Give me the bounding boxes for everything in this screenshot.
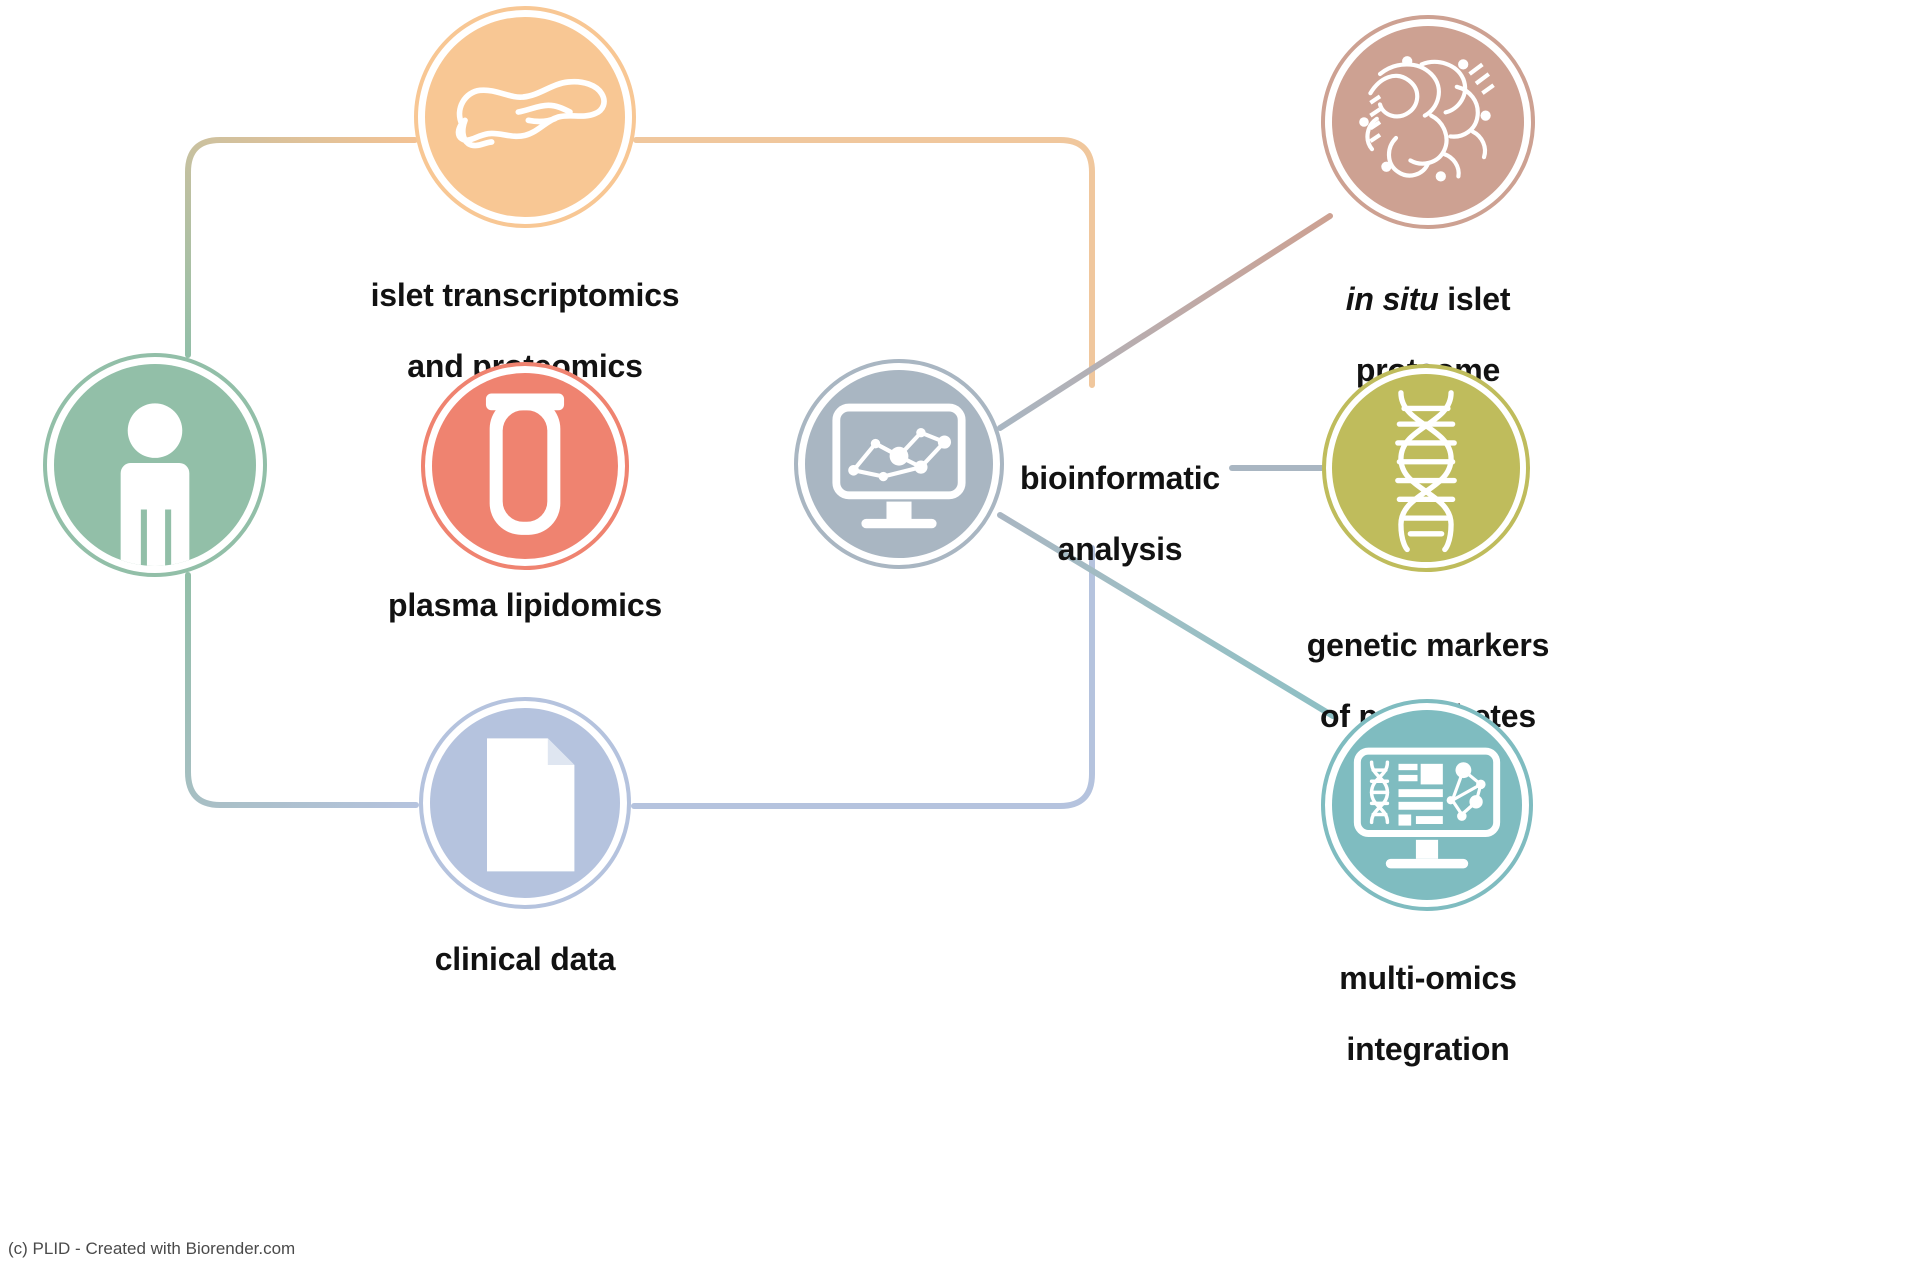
node-participant[interactable] bbox=[43, 353, 267, 577]
person-icon bbox=[54, 364, 256, 566]
node-genetic-markers[interactable] bbox=[1322, 364, 1530, 572]
islet-label-line1: islet transcriptomics bbox=[371, 277, 680, 313]
bioinfo-label-line1: bioinformatic bbox=[1020, 460, 1220, 496]
node-clinical-data[interactable] bbox=[419, 697, 631, 909]
label-clinical-data: clinical data bbox=[275, 942, 775, 978]
computer-network-icon bbox=[805, 370, 993, 558]
multiomics-ring bbox=[1321, 699, 1533, 911]
proteome-ring bbox=[1321, 15, 1535, 229]
genetic-label-line1: genetic markers bbox=[1307, 627, 1549, 663]
genetic-ring bbox=[1322, 364, 1530, 572]
node-plasma-lipidomics[interactable] bbox=[421, 362, 629, 570]
proteome-label-line1-rest: islet bbox=[1439, 281, 1511, 317]
document-icon bbox=[430, 708, 620, 898]
label-multi-omics-integration: multi-omics integration bbox=[1268, 925, 1588, 1068]
islet-core bbox=[425, 17, 625, 217]
bioinfo-label-line2: analysis bbox=[1058, 531, 1183, 567]
pancreas-icon bbox=[425, 17, 625, 217]
node-islet-omics[interactable] bbox=[414, 6, 636, 228]
multiomics-label-line2: integration bbox=[1346, 1031, 1509, 1067]
diagram-canvas: islet transcriptomics and proteomics pla… bbox=[0, 0, 1920, 1274]
bioinfo-ring bbox=[794, 359, 1004, 569]
test-tube-icon bbox=[432, 373, 618, 559]
multiomics-label-line1: multi-omics bbox=[1339, 960, 1516, 996]
protein-structure-icon bbox=[1332, 26, 1524, 218]
node-multi-omics-integration[interactable] bbox=[1321, 699, 1533, 911]
plasma-ring bbox=[421, 362, 629, 570]
multiomics-dashboard-icon bbox=[1332, 710, 1522, 900]
wire-clinical-to-bioinformatic bbox=[634, 548, 1092, 806]
connector-layer bbox=[0, 0, 1920, 1274]
bioinfo-core bbox=[805, 370, 993, 558]
multiomics-core bbox=[1332, 710, 1522, 900]
participant-ring bbox=[43, 353, 267, 577]
islet-ring bbox=[414, 6, 636, 228]
proteome-core bbox=[1332, 26, 1524, 218]
genetic-core bbox=[1332, 374, 1520, 562]
label-bioinformatic-analysis: bioinformatic analysis bbox=[1000, 425, 1240, 568]
node-in-situ-islet-proteome[interactable] bbox=[1321, 15, 1535, 229]
proteome-label-italic: in situ bbox=[1346, 281, 1439, 317]
label-plasma-lipidomics: plasma lipidomics bbox=[275, 588, 775, 624]
participant-core bbox=[54, 364, 256, 566]
credit-text: (c) PLID - Created with Biorender.com bbox=[8, 1239, 295, 1259]
clinical-ring bbox=[419, 697, 631, 909]
clinical-core bbox=[430, 708, 620, 898]
plasma-core bbox=[432, 373, 618, 559]
dna-helix-icon bbox=[1332, 374, 1520, 562]
node-bioinformatic-analysis[interactable] bbox=[794, 359, 1004, 569]
